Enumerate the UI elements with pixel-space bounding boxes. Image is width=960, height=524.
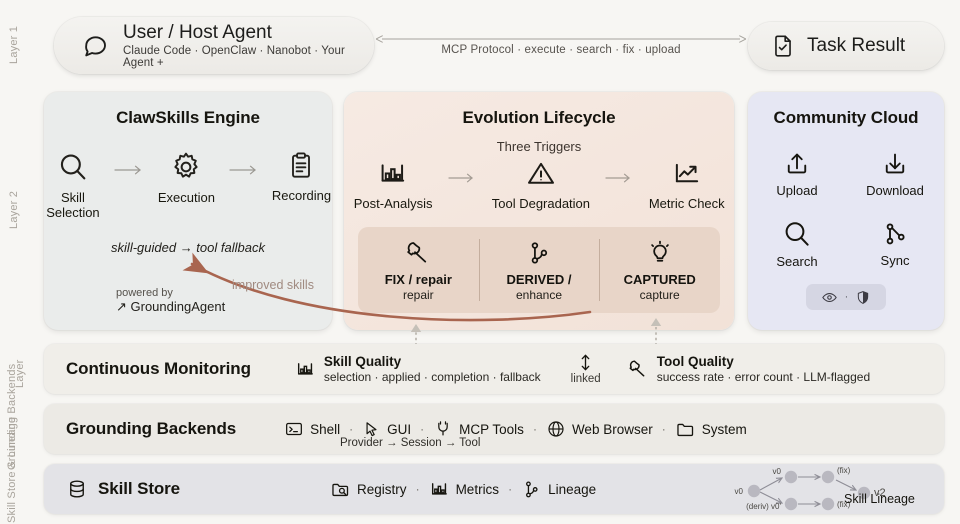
- backend-web-browser[interactable]: Web Browser: [546, 419, 653, 439]
- improved-skills-label: improved skills: [232, 278, 314, 292]
- continuous-monitoring-bar[interactable]: Continuous Monitoring Skill Quality sele…: [44, 344, 944, 394]
- lineage-node-label: (deriv) v0': [746, 502, 781, 511]
- skill-store-items: Registry · Metrics ·: [330, 479, 596, 500]
- bar-chart-icon: [295, 359, 316, 380]
- flow-arrow-icon: [114, 164, 144, 176]
- trigger-post-analysis[interactable]: Post-Analysis: [344, 158, 442, 211]
- linked-indicator: linked: [571, 353, 601, 385]
- store-item-registry[interactable]: Registry: [330, 479, 407, 500]
- rail-label-skill-store: Skill Store & Lineage: [6, 455, 32, 523]
- lineage-node-label: v0: [773, 467, 782, 476]
- community-cloud-title: Community Cloud: [748, 108, 944, 128]
- three-triggers-label: Three Triggers: [344, 139, 734, 154]
- outcome-title: CAPTURED: [624, 272, 696, 287]
- backend-label: Shell: [310, 422, 340, 437]
- user-host-agent-card[interactable]: User / Host Agent Claude Code · OpenClaw…: [54, 17, 374, 74]
- magnifier-icon: [56, 150, 90, 184]
- cloud-action-search[interactable]: Search: [748, 208, 846, 278]
- store-item-label: Metrics: [456, 482, 500, 497]
- community-cloud-card[interactable]: Community Cloud Upload Do: [748, 92, 944, 330]
- grounding-backends-bar[interactable]: Grounding Backends Shell · GUI ·: [44, 404, 944, 454]
- mcp-protocol-label: MCP Protocol · execute · search · fix · …: [374, 44, 748, 56]
- skill-quality-block[interactable]: Skill Quality selection · applied · comp…: [295, 354, 541, 384]
- rail-label-layer-1: Layer 1: [8, 12, 20, 78]
- eye-icon: [821, 289, 838, 306]
- engine-step-label: Execution: [158, 190, 215, 205]
- list-separator: ·: [420, 422, 424, 436]
- lightbulb-icon: [646, 239, 674, 267]
- upload-icon: [782, 149, 812, 179]
- cloud-action-sync[interactable]: Sync: [846, 208, 944, 278]
- lineage-node-label: (fix): [837, 466, 851, 475]
- backend-shell[interactable]: Shell: [284, 419, 340, 439]
- shield-icon: [855, 289, 871, 306]
- improved-skills-feedback-arrow: [150, 236, 610, 332]
- chat-bubble-icon: [80, 31, 110, 61]
- database-icon: [66, 478, 88, 500]
- outcome-subtitle: capture: [640, 288, 680, 302]
- mcp-protocol-connector: MCP Protocol · execute · search · fix · …: [374, 28, 748, 70]
- document-check-icon: [770, 33, 796, 59]
- warning-triangle-icon: [525, 158, 557, 190]
- list-separator: ·: [349, 422, 353, 436]
- backend-system[interactable]: System: [675, 419, 747, 440]
- engine-flow: SkillSelection Execution: [44, 150, 332, 220]
- store-item-metrics[interactable]: Metrics: [429, 479, 500, 500]
- clawskills-engine-title: ClawSkills Engine: [44, 108, 332, 128]
- skill-quality-metrics: selection · applied · completion · fallb…: [324, 370, 541, 384]
- skill-store-title-block: Skill Store: [66, 478, 180, 500]
- globe-icon: [546, 419, 566, 439]
- list-separator: ·: [533, 422, 537, 436]
- trigger-metric-check[interactable]: Metric Check: [639, 158, 734, 211]
- diagram-canvas: Layer 1 Layer 2 Layer Grounding Backends…: [0, 0, 960, 524]
- engine-step-recording[interactable]: Recording: [271, 150, 332, 203]
- trigger-tool-degradation[interactable]: Tool Degradation: [482, 158, 599, 211]
- flow-arrow-icon: [448, 172, 476, 184]
- cloud-action-upload[interactable]: Upload: [748, 138, 846, 208]
- provider-session-tool-note: Provider → Session → Tool: [340, 437, 480, 449]
- tool-quality-block[interactable]: Tool Quality success rate · error count …: [627, 354, 870, 384]
- trigger-label: Post-Analysis: [354, 196, 433, 211]
- engine-step-label: Recording: [272, 188, 331, 203]
- cloud-action-label: Search: [776, 254, 817, 269]
- up-down-arrow-icon: [578, 353, 593, 372]
- folder-icon: [675, 419, 696, 440]
- terminal-icon: [284, 419, 304, 439]
- skill-lineage-graph: v0 v0 (fix) (deriv) v0' (fix) v2: [716, 466, 928, 514]
- engine-step-skill-selection[interactable]: SkillSelection: [44, 150, 102, 220]
- cloud-actions-grid: Upload Download Search: [748, 138, 944, 278]
- sync-branch-icon: [880, 219, 910, 249]
- backend-label: GUI: [387, 422, 411, 437]
- backend-label: MCP Tools: [459, 422, 524, 437]
- cloud-trust-badge[interactable]: ·: [806, 284, 886, 310]
- user-host-agent-subtitle: Claude Code · OpenClaw · Nanobot · Your …: [123, 45, 348, 69]
- wrench-icon: [627, 358, 649, 380]
- plug-icon: [433, 419, 453, 439]
- tool-quality-name: Tool Quality: [657, 354, 870, 369]
- linked-label: linked: [571, 373, 601, 385]
- skill-store-title: Skill Store: [98, 479, 180, 499]
- trend-up-icon: [671, 158, 703, 190]
- store-item-lineage[interactable]: Lineage: [521, 479, 596, 500]
- rail-label-layer-2: Layer 2: [8, 170, 20, 250]
- skill-quality-name: Skill Quality: [324, 354, 541, 369]
- store-item-label: Registry: [357, 482, 407, 497]
- bar-chart-icon: [429, 479, 450, 500]
- user-host-agent-title: User / Host Agent: [123, 22, 348, 44]
- skill-store-bar[interactable]: Skill Store Registry ·: [44, 464, 944, 514]
- task-result-title: Task Result: [807, 35, 905, 57]
- clipboard-icon: [285, 150, 317, 182]
- cloud-action-label: Upload: [776, 183, 817, 198]
- backend-label: System: [702, 422, 747, 437]
- cloud-action-label: Download: [866, 183, 924, 198]
- grounding-backends-title: Grounding Backends: [66, 419, 236, 439]
- evolution-lifecycle-title: Evolution Lifecycle: [344, 108, 734, 128]
- backend-gui[interactable]: GUI: [362, 420, 411, 439]
- trigger-label: Metric Check: [649, 196, 725, 211]
- continuous-monitoring-title: Continuous Monitoring: [66, 359, 251, 379]
- branch-icon: [521, 479, 542, 500]
- folder-search-icon: [330, 479, 351, 500]
- cloud-action-download[interactable]: Download: [846, 138, 944, 208]
- bar-chart-icon: [377, 158, 409, 190]
- flow-arrow-icon: [229, 164, 259, 176]
- cursor-icon: [362, 420, 381, 439]
- badge-separator: ·: [845, 291, 849, 303]
- trigger-label: Tool Degradation: [492, 196, 590, 211]
- outcome-captured-capture[interactable]: CAPTURED capture: [599, 227, 720, 313]
- skill-lineage-title: Skill Lineage: [844, 492, 915, 506]
- list-separator: ·: [416, 482, 420, 496]
- backend-label: Web Browser: [572, 422, 653, 437]
- gear-icon: [169, 150, 203, 184]
- task-result-card[interactable]: Task Result: [748, 22, 944, 70]
- download-icon: [880, 149, 910, 179]
- lineage-node-label: v0: [735, 487, 744, 496]
- tool-quality-metrics: success rate · error count · LLM-flagged: [657, 370, 870, 384]
- list-separator: ·: [508, 482, 512, 496]
- engine-step-execution[interactable]: Execution: [156, 150, 217, 205]
- magnifier-icon: [781, 218, 813, 250]
- engine-step-label: SkillSelection: [46, 190, 99, 220]
- list-separator: ·: [662, 422, 666, 436]
- store-item-label: Lineage: [548, 482, 596, 497]
- trigger-flow: Post-Analysis Tool Degradation: [344, 158, 734, 211]
- flow-arrow-icon: [605, 172, 633, 184]
- backend-mcp-tools[interactable]: MCP Tools: [433, 419, 524, 439]
- cloud-action-label: Sync: [881, 253, 910, 268]
